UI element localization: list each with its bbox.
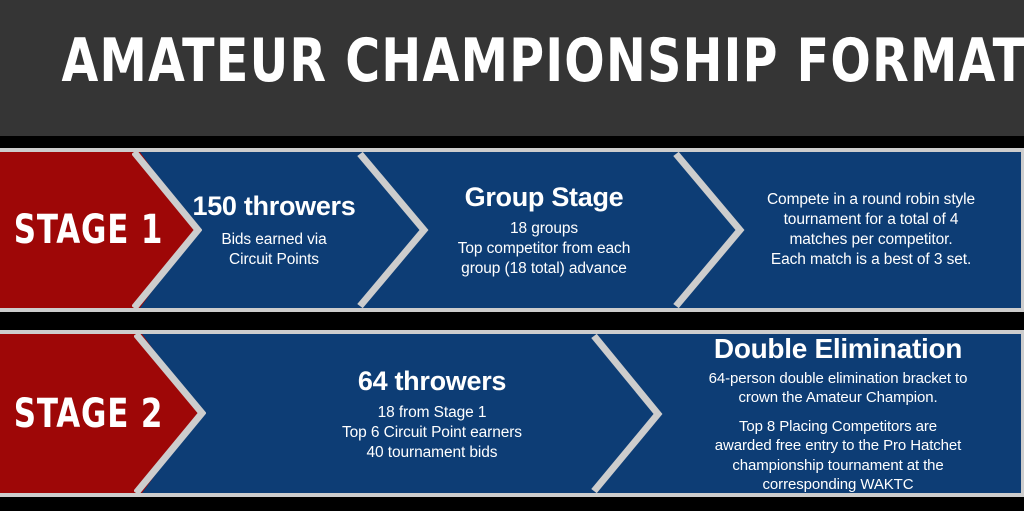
panel-line: awarded free entry to the Pro Hatchet <box>715 436 961 456</box>
panel-line: championship tournament at the <box>715 456 961 476</box>
panel-line: Top 8 Placing Competitors are <box>715 417 961 437</box>
panel-body: Bids earned via Circuit Points <box>221 230 326 270</box>
stage-1-panel-format-details: Compete in a round robin style tournamen… <box>726 152 1016 308</box>
stage-2-label: STAGE 2 <box>0 391 163 437</box>
panel-line: Circuit Points <box>221 250 326 270</box>
panel-line: Top 6 Circuit Point earners <box>342 423 522 443</box>
panel-body: 18 groups Top competitor from each group… <box>458 219 630 279</box>
panel-line: matches per competitor. <box>767 230 975 250</box>
amateur-championship-format-infographic: AMATEUR CHAMPIONSHIP FORMAT STAGE 1 150 … <box>0 0 1024 511</box>
stage-2-panel-throwers: 64 throwers 18 from Stage 1 Top 6 Circui… <box>256 334 608 493</box>
stage-2-panel-double-elimination: Double Elimination 64-person double elim… <box>660 334 1016 493</box>
stage-1-row: STAGE 1 150 throwers Bids earned via Cir… <box>0 148 1024 312</box>
panel-line: tournament for a total of 4 <box>767 210 975 230</box>
panel-line: Compete in a round robin style <box>767 190 975 210</box>
panel-line: Bids earned via <box>221 230 326 250</box>
panel-line: Each match is a best of 3 set. <box>767 250 975 270</box>
page-title: AMATEUR CHAMPIONSHIP FORMAT <box>61 28 962 94</box>
stage-1-label: STAGE 1 <box>0 207 163 253</box>
panel-title: Double Elimination <box>714 333 962 365</box>
panel-line: 18 from Stage 1 <box>342 403 522 423</box>
panel-line: 40 tournament bids <box>342 443 522 463</box>
panel-line: group (18 total) advance <box>458 259 630 279</box>
panel-body: 64-person double elimination bracket to … <box>709 369 968 408</box>
stage-2-row: STAGE 2 64 throwers 18 from Stage 1 Top … <box>0 330 1024 497</box>
panel-line: Top competitor from each <box>458 239 630 259</box>
panel-line: 64-person double elimination bracket to <box>709 369 968 389</box>
stage-1-badge: STAGE 1 <box>0 152 196 308</box>
panel-body: 18 from Stage 1 Top 6 Circuit Point earn… <box>342 403 522 463</box>
panel-title: 64 throwers <box>358 365 506 397</box>
panel-line: 18 groups <box>458 219 630 239</box>
panel-body: Compete in a round robin style tournamen… <box>767 190 975 270</box>
stage-2-badge: STAGE 2 <box>0 334 200 493</box>
panel-title: 150 throwers <box>193 190 356 222</box>
panel-body: Top 8 Placing Competitors are awarded fr… <box>715 417 961 495</box>
stage-1-panel-throwers: 150 throwers Bids earned via Circuit Poi… <box>168 152 380 308</box>
panel-line: corresponding WAKTC <box>715 475 961 495</box>
stage-1-panel-group-stage: Group Stage 18 groups Top competitor fro… <box>400 152 688 308</box>
panel-line: crown the Amateur Champion. <box>709 388 968 408</box>
panel-title: Group Stage <box>465 181 624 213</box>
